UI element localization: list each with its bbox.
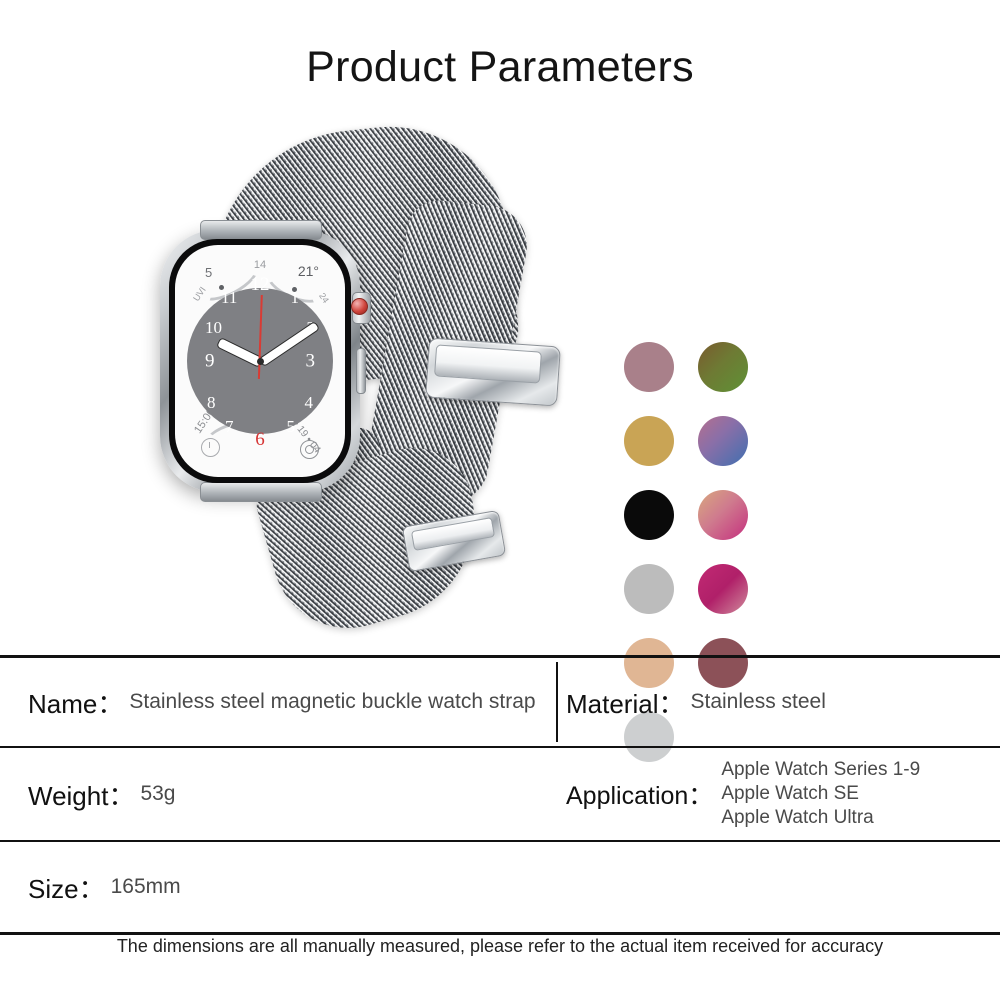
- color-swatch-mauve[interactable]: [624, 342, 674, 392]
- color-swatch-pink-blue-mesh[interactable]: [698, 416, 748, 466]
- product-hero: 5 UVI 14 21° 24 15:00 375 • 19 • 04 12 1…: [0, 120, 1000, 650]
- table-row: Name： Stainless steel magnetic buckle wa…: [0, 658, 1000, 748]
- color-swatch-grid: [624, 342, 784, 672]
- size-cell: Size： 165mm: [0, 842, 1000, 932]
- application-value: Apple Watch Series 1-9Apple Watch SEAppl…: [721, 758, 920, 831]
- numeral-4: 4: [305, 394, 314, 411]
- numeral-12: 12: [251, 275, 270, 294]
- numeral-5: 5: [287, 418, 296, 435]
- application-label: Application：: [566, 776, 713, 812]
- watch-case: 5 UVI 14 21° 24 15:00 375 • 19 • 04 12 1…: [160, 230, 360, 492]
- numeral-11: 11: [221, 289, 237, 306]
- uv-index-value: 5: [205, 265, 212, 280]
- name-label: Name：: [28, 684, 123, 721]
- measurement-disclaimer: The dimensions are all manually measured…: [0, 936, 1000, 957]
- watch-screen: 5 UVI 14 21° 24 15:00 375 • 19 • 04 12 1…: [175, 245, 345, 477]
- weight-cell: Weight： 53g: [0, 748, 556, 840]
- watch-side-button: [356, 348, 366, 394]
- product-image: 5 UVI 14 21° 24 15:00 375 • 19 • 04 12 1…: [150, 130, 590, 630]
- numeral-7: 7: [225, 418, 234, 435]
- color-swatch-magenta-mesh[interactable]: [698, 564, 748, 614]
- material-cell: Material： Stainless steel: [556, 658, 1000, 746]
- page-title: Product Parameters: [0, 44, 1000, 91]
- weight-value: 53g: [140, 782, 175, 806]
- numeral-1: 1: [291, 289, 300, 306]
- watch-bezel: 5 UVI 14 21° 24 15:00 375 • 19 • 04 12 1…: [169, 239, 351, 483]
- product-parameter-table: Name： Stainless steel magnetic buckle wa…: [0, 655, 1000, 935]
- weight-label: Weight：: [28, 776, 134, 813]
- watch-lug-bottom: [200, 482, 322, 502]
- numeral-8: 8: [207, 394, 216, 411]
- watch-lug-top: [200, 220, 322, 240]
- timer-icon: [201, 438, 220, 457]
- application-line-3: Apple Watch Ultra: [721, 806, 920, 830]
- size-label: Size：: [28, 869, 105, 906]
- numeral-10: 10: [205, 319, 222, 336]
- activity-rings-icon: [300, 440, 319, 459]
- color-swatch-light-grey[interactable]: [624, 564, 674, 614]
- color-swatch-brown-green-mesh[interactable]: [698, 342, 748, 392]
- table-row: Size： 165mm: [0, 842, 1000, 935]
- material-label: Material：: [566, 684, 684, 721]
- color-swatch-black[interactable]: [624, 490, 674, 540]
- temperature-value: 21°: [298, 263, 319, 279]
- table-row: Weight： 53g Application： Apple Watch Ser…: [0, 748, 1000, 842]
- application-line-2: Apple Watch SE: [721, 782, 920, 806]
- numeral-3: 3: [306, 352, 316, 371]
- hands-center-pin: [257, 358, 264, 365]
- color-swatch-gold[interactable]: [624, 416, 674, 466]
- name-cell: Name： Stainless steel magnetic buckle wa…: [0, 658, 556, 746]
- digital-crown-red-dot: [351, 298, 368, 315]
- numeral-6: 6: [255, 430, 265, 449]
- application-line-1: Apple Watch Series 1-9: [721, 758, 920, 782]
- material-value: Stainless steel: [690, 690, 825, 714]
- numeral-9: 9: [205, 352, 215, 371]
- color-swatch-peach-pink-mesh[interactable]: [698, 490, 748, 540]
- application-cell: Application： Apple Watch Series 1-9Apple…: [556, 748, 1000, 840]
- name-value: Stainless steel magnetic buckle watch st…: [129, 690, 535, 714]
- size-value: 165mm: [111, 875, 181, 899]
- hour-14-label: 14: [254, 259, 266, 271]
